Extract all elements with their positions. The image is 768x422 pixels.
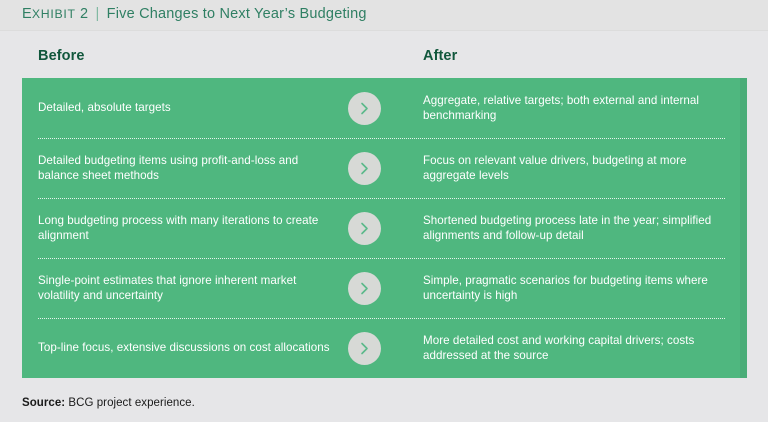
column-header-after: After — [423, 48, 457, 64]
exhibit-label: EXHIBIT — [22, 7, 76, 21]
cell-before: Single-point estimates that ignore inher… — [38, 273, 338, 304]
source-label: Source: — [22, 397, 65, 409]
table-row: Detailed budgeting items using profit-an… — [22, 138, 747, 198]
cell-before: Detailed, absolute targets — [38, 100, 338, 116]
table-row: Top-line focus, extensive discussions on… — [22, 318, 747, 378]
chevron-right-icon — [348, 212, 381, 245]
chevron-right-icon — [348, 332, 381, 365]
table-row: Single-point estimates that ignore inher… — [22, 258, 747, 318]
exhibit-figure: EXHIBIT 2 | Five Changes to Next Year’s … — [0, 0, 768, 422]
cell-after: Shortened budgeting process late in the … — [423, 213, 713, 244]
chevron-right-icon — [348, 152, 381, 185]
column-header-before: Before — [38, 48, 85, 64]
cell-after: Focus on relevant value drivers, budgeti… — [423, 153, 713, 184]
exhibit-label-smallcaps: XHIBIT — [32, 7, 76, 21]
cell-after: More detailed cost and working capital d… — [423, 333, 713, 364]
chevron-right-icon — [348, 272, 381, 305]
comparison-panel: Detailed, absolute targets Aggregate, re… — [22, 78, 747, 378]
exhibit-label-initial: E — [22, 6, 32, 22]
cell-after: Simple, pragmatic scenarios for budgetin… — [423, 273, 713, 304]
page-title: EXHIBIT 2 | Five Changes to Next Year’s … — [22, 6, 367, 22]
cell-after: Aggregate, relative targets; both extern… — [423, 93, 713, 124]
table-row: Detailed, absolute targets Aggregate, re… — [22, 78, 747, 138]
cell-before: Top-line focus, extensive discussions on… — [38, 340, 338, 356]
exhibit-title-band: EXHIBIT 2 | Five Changes to Next Year’s … — [0, 0, 768, 31]
source-text: BCG project experience. — [68, 397, 194, 409]
source-note: Source: BCG project experience. — [22, 397, 195, 409]
cell-before: Detailed budgeting items using profit-an… — [38, 153, 338, 184]
table-row: Long budgeting process with many iterati… — [22, 198, 747, 258]
exhibit-number: 2 — [80, 6, 88, 22]
title-divider: | — [92, 6, 102, 22]
cell-before: Long budgeting process with many iterati… — [38, 213, 338, 244]
exhibit-title-text: Five Changes to Next Year’s Budgeting — [107, 6, 367, 22]
chevron-right-icon — [348, 92, 381, 125]
